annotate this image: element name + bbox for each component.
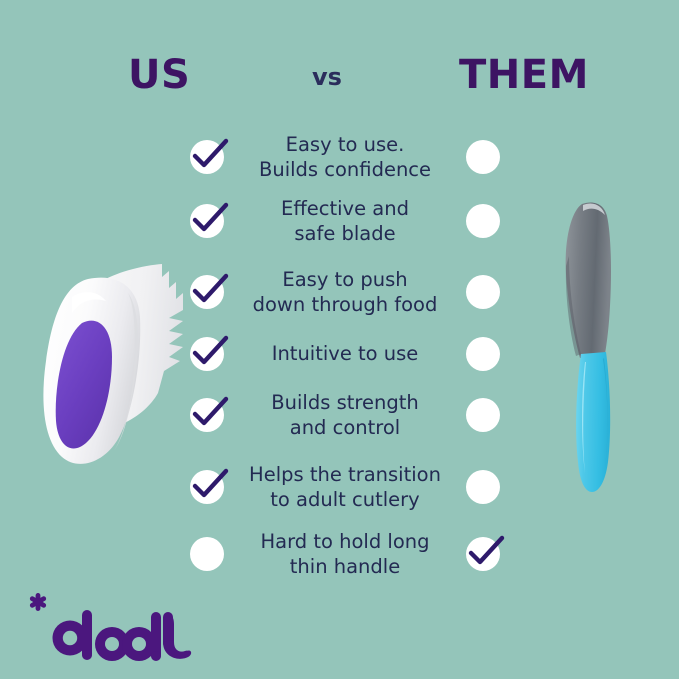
- circle-marker: [466, 398, 500, 432]
- table-row: Intuitive to use: [186, 328, 504, 379]
- circle-marker: [466, 470, 500, 504]
- table-row: Hard to hold long thin handle: [186, 524, 504, 584]
- feature-label: Intuitive to use: [228, 341, 462, 366]
- us-check-cell[interactable]: [186, 200, 228, 242]
- circle-marker: [466, 204, 500, 238]
- table-row: Helps the transition to adult cutlery: [186, 450, 504, 524]
- feature-label: Easy to use. Builds confidence: [228, 132, 462, 182]
- circle-marker: [466, 140, 500, 174]
- product-image-doddl-knife: [36, 243, 208, 475]
- circle-marker: [190, 398, 224, 432]
- table-row: Effective and safe blade: [186, 186, 504, 256]
- header-vs: vs: [312, 62, 342, 92]
- circle-marker: [466, 275, 500, 309]
- asterisk-icon: [29, 593, 47, 611]
- table-row: Easy to push down through food: [186, 256, 504, 328]
- circle-marker: [190, 537, 224, 571]
- feature-label: Effective and safe blade: [228, 196, 462, 246]
- circle-marker: [190, 470, 224, 504]
- header-row: US vs THEM: [0, 52, 679, 104]
- circle-marker: [190, 275, 224, 309]
- us-check-cell[interactable]: [186, 136, 228, 178]
- us-check-cell[interactable]: [186, 466, 228, 508]
- us-check-cell[interactable]: [186, 333, 228, 375]
- table-row: Easy to use. Builds confidence: [186, 128, 504, 186]
- them-check-cell[interactable]: [462, 136, 504, 178]
- them-check-cell[interactable]: [462, 200, 504, 242]
- doddl-logo[interactable]: doddl: [18, 586, 194, 662]
- us-check-cell[interactable]: [186, 394, 228, 436]
- comparison-table: Easy to use. Builds confidence Effective…: [186, 128, 504, 584]
- us-check-cell[interactable]: [186, 533, 228, 575]
- circle-marker: [466, 337, 500, 371]
- header-us: US: [128, 52, 190, 98]
- them-check-cell[interactable]: [462, 466, 504, 508]
- us-check-cell[interactable]: [186, 271, 228, 313]
- circle-marker: [190, 140, 224, 174]
- comparison-infographic: US vs THEM: [0, 0, 679, 679]
- them-check-cell[interactable]: [462, 271, 504, 313]
- them-check-cell[interactable]: [462, 394, 504, 436]
- header-them: THEM: [459, 52, 589, 98]
- feature-label: Easy to push down through food: [228, 267, 462, 317]
- them-check-cell[interactable]: [462, 533, 504, 575]
- feature-label: Hard to hold long thin handle: [228, 529, 462, 579]
- circle-marker: [190, 337, 224, 371]
- circle-marker: [190, 204, 224, 238]
- table-row: Builds strength and control: [186, 379, 504, 450]
- product-image-competitor-knife: [536, 196, 652, 498]
- them-check-cell[interactable]: [462, 333, 504, 375]
- circle-marker: [466, 537, 500, 571]
- feature-label: Helps the transition to adult cutlery: [228, 462, 462, 512]
- feature-label: Builds strength and control: [228, 390, 462, 440]
